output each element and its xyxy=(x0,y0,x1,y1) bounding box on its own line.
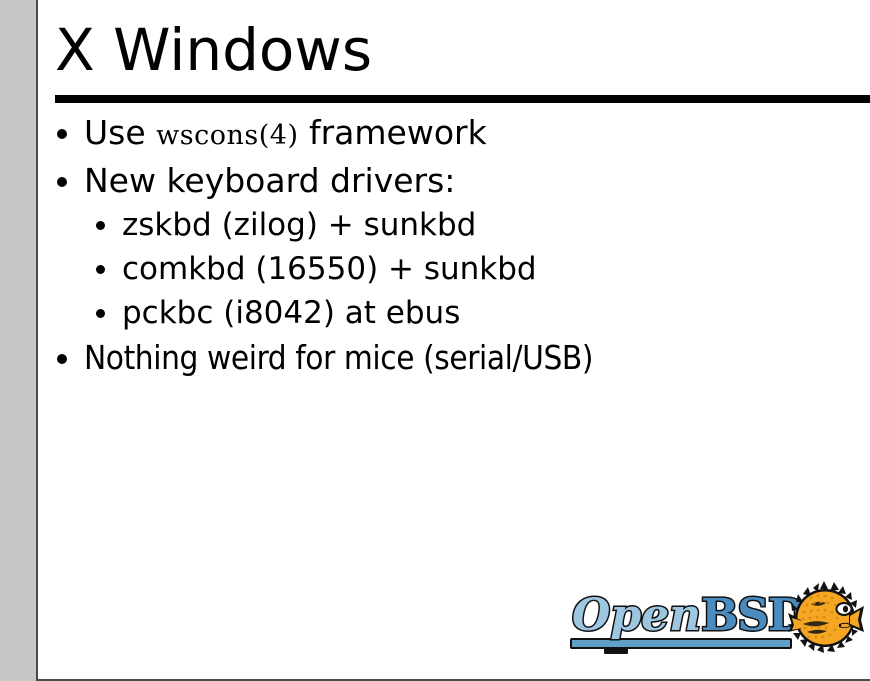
bullet-text: pckbc (i8042) at ebus xyxy=(122,295,460,331)
bullet-list-level-2: zskbd (zilog) + sunkbd comkbd (16550) + … xyxy=(84,203,870,335)
puffy-pupil xyxy=(843,606,848,613)
bullet-point-icon xyxy=(57,177,67,187)
puffy-pufferfish-icon xyxy=(787,580,865,662)
bullet-text: Nothing weird for mice (serial/USB) xyxy=(84,338,593,377)
bullet-point-icon xyxy=(57,129,67,139)
logo-word-open: Open xyxy=(572,590,701,641)
nested-list-wrapper: zskbd (zilog) + sunkbd comkbd (16550) + … xyxy=(0,203,870,335)
list-item: Use wscons(4) framework xyxy=(0,110,870,158)
bullet-text-segment: Use xyxy=(84,113,156,152)
slide-title: X Windows xyxy=(55,14,372,86)
list-item: New keyboard drivers: xyxy=(0,158,870,203)
openbsd-wordmark: OpenBSD xyxy=(570,592,798,650)
bullet-point-icon xyxy=(57,354,67,364)
slide-body: Use wscons(4) framework New keyboard dri… xyxy=(0,110,870,380)
list-item: zskbd (zilog) + sunkbd xyxy=(84,203,870,247)
openbsd-logo: OpenBSD xyxy=(565,578,865,664)
logo-baseplate-foot xyxy=(604,647,628,654)
title-underline-rule xyxy=(55,95,870,103)
bullet-point-icon xyxy=(96,221,105,230)
list-item: comkbd (16550) + sunkbd xyxy=(84,247,870,291)
list-item: pckbc (i8042) at ebus xyxy=(84,291,870,335)
bullet-text: zskbd (zilog) + sunkbd xyxy=(122,207,476,243)
bullet-point-icon xyxy=(96,265,105,274)
bullet-list-level-1: Use wscons(4) framework New keyboard dri… xyxy=(0,110,870,380)
bullet-text: New keyboard drivers: xyxy=(84,161,455,200)
puffy-body xyxy=(798,592,853,645)
list-item: Nothing weird for mice (serial/USB) xyxy=(0,335,870,380)
bullet-text-segment: framework xyxy=(298,113,486,152)
bullet-point-icon xyxy=(96,309,105,318)
bullet-text: comkbd (16550) + sunkbd xyxy=(122,251,537,287)
logo-word-group: OpenBSD xyxy=(572,592,805,640)
slide: X Windows Use wscons(4) framework New ke… xyxy=(0,0,870,681)
bullet-text-code: wscons(4) xyxy=(156,120,298,151)
